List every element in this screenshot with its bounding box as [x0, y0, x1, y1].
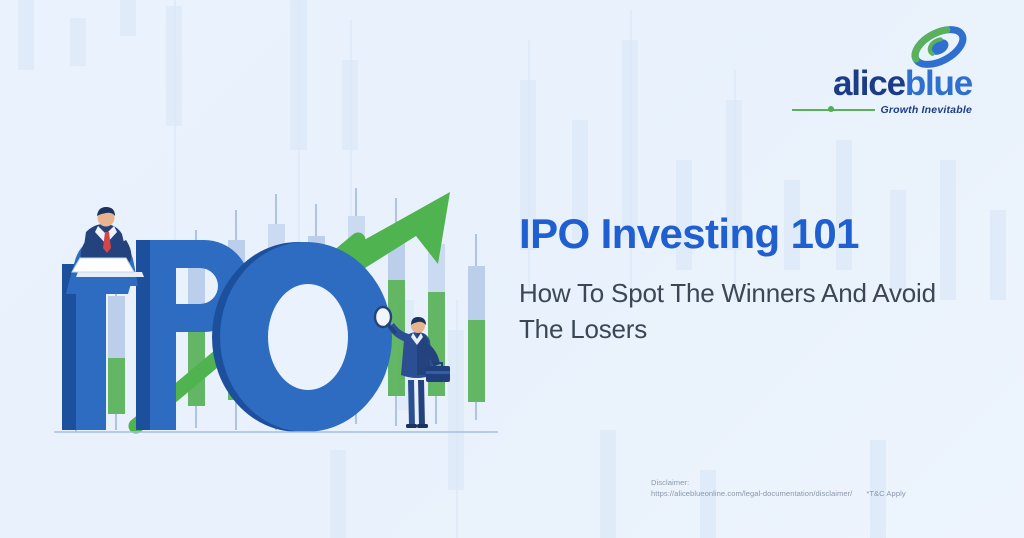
brand-logo[interactable]: aliceblue Growth Inevitable [792, 30, 972, 116]
illustration-canvas [40, 180, 510, 450]
logo-tagline-row: Growth Inevitable [792, 105, 972, 116]
disclaimer-label: Disclaimer: [651, 477, 906, 488]
page-subtitle: How To Spot The Winners And Avoid The Lo… [519, 276, 979, 348]
logo-wordmark: aliceblue [792, 66, 972, 101]
ipo-banner: aliceblue Growth Inevitable [0, 0, 1024, 538]
terms-and-conditions-note: *T&C Apply [866, 489, 905, 498]
headline-block: IPO Investing 101 How To Spot The Winner… [519, 212, 979, 348]
page-title: IPO Investing 101 [519, 212, 979, 256]
logo-i-dot-icon [828, 106, 834, 112]
disclaimer-block: Disclaimer: https://aliceblueonline.com/… [651, 477, 906, 499]
ipo-illustration [40, 180, 510, 450]
disclaimer-url[interactable]: https://aliceblueonline.com/legal-docume… [651, 489, 852, 498]
logo-word-alice: alice [833, 64, 905, 103]
businessman-on-laptop-figure [66, 207, 144, 294]
logo-word-blue: blue [905, 64, 972, 103]
logo-tagline: Growth Inevitable [881, 105, 973, 116]
